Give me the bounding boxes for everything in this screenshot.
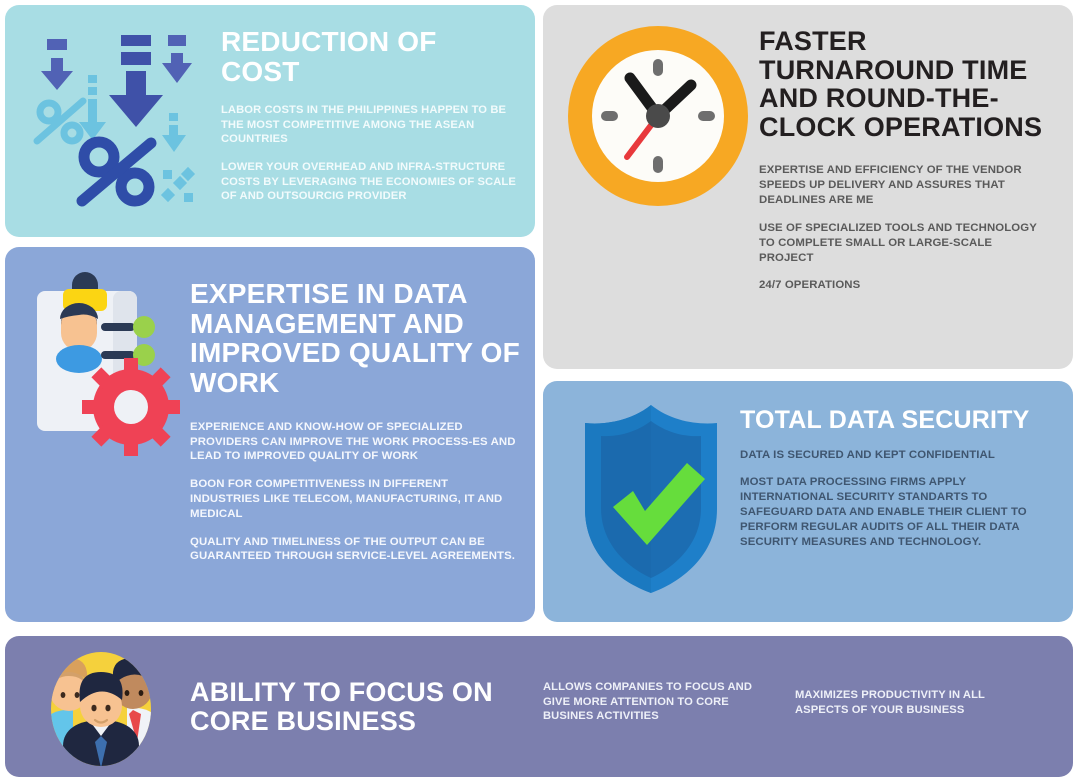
panel-security-paragraph-2: MOST DATA PROCESSING FIRMS APPLY INTERNA… [740,475,1040,549]
panel-expertise-paragraph-3: QUALITY AND TIMELINESS OF THE OUTPUT CAN… [190,535,520,565]
panel-expertise-body: EXPERIENCE AND KNOW-HOW OF SPECIALIZED P… [190,420,520,565]
clipboard-gear-icon [23,267,208,467]
panel-turnaround-paragraph-1: EXPERTISE AND EFFICIENCY OF THE VENDOR S… [759,163,1049,207]
panel-total-data-security: TOTAL DATA SECURITY DATA IS SECURED AND … [543,381,1073,622]
panel-focus-column-2: MAXIMIZES PRODUCTIVITY IN ALL ASPECTS OF… [795,688,1035,717]
people-group-icon [33,650,169,768]
clock-icon [565,23,751,209]
shield-check-icon [571,399,731,599]
panel-cost-paragraph-1: LABOR COSTS IN THE PHILIPPINES HAPPEN TO… [221,103,521,147]
panel-focus-column-1: ALLOWS COMPANIES TO FOCUS AND GIVE MORE … [543,680,763,724]
panel-security-text: TOTAL DATA SECURITY DATA IS SECURED AND … [740,407,1040,549]
downward-arrows-percent-icon [23,27,208,212]
panel-turnaround-title: FASTER TURNAROUND TIME AND ROUND-THE-CLO… [759,27,1049,141]
panel-expertise-data-management: EXPERTISE IN DATA MANAGEMENT AND IMPROVE… [5,247,535,622]
panel-turnaround-text: FASTER TURNAROUND TIME AND ROUND-THE-CLO… [759,27,1049,293]
panel-turnaround-paragraph-2: USE OF SPECIALIZED TOOLS AND TECHNOLOGY … [759,221,1049,265]
panel-cost-body: LABOR COSTS IN THE PHILIPPINES HAPPEN TO… [221,103,521,203]
panel-security-title: TOTAL DATA SECURITY [740,407,1040,434]
panel-security-paragraph-1: DATA IS SECURED AND KEPT CONFIDENTIAL [740,448,1040,463]
panel-expertise-paragraph-2: BOON FOR COMPETITIVENESS IN DIFFERENT IN… [190,477,520,521]
panel-faster-turnaround: FASTER TURNAROUND TIME AND ROUND-THE-CLO… [543,5,1073,369]
panel-cost-text: REDUCTION OF COST LABOR COSTS IN THE PHI… [221,27,521,204]
panel-cost-title: REDUCTION OF COST [221,27,521,86]
panel-reduction-of-cost: REDUCTION OF COST LABOR COSTS IN THE PHI… [5,5,535,237]
infographic-canvas: REDUCTION OF COST LABOR COSTS IN THE PHI… [0,0,1080,782]
panel-focus-title: ABILITY TO FOCUS ON CORE BUSINESS [190,678,520,735]
panel-turnaround-paragraph-3: 24/7 OPERATIONS [759,278,1049,293]
panel-expertise-paragraph-1: EXPERIENCE AND KNOW-HOW OF SPECIALIZED P… [190,420,520,464]
panel-cost-paragraph-2: LOWER YOUR OVERHEAD AND INFRA-STRUCTURE … [221,160,521,204]
panel-expertise-text: EXPERTISE IN DATA MANAGEMENT AND IMPROVE… [190,279,520,564]
panel-focus-core-business: ABILITY TO FOCUS ON CORE BUSINESS ALLOWS… [5,636,1073,777]
panel-expertise-title: EXPERTISE IN DATA MANAGEMENT AND IMPROVE… [190,279,520,398]
panel-security-body: DATA IS SECURED AND KEPT CONFIDENTIAL MO… [740,448,1040,550]
panel-turnaround-body: EXPERTISE AND EFFICIENCY OF THE VENDOR S… [759,163,1049,293]
